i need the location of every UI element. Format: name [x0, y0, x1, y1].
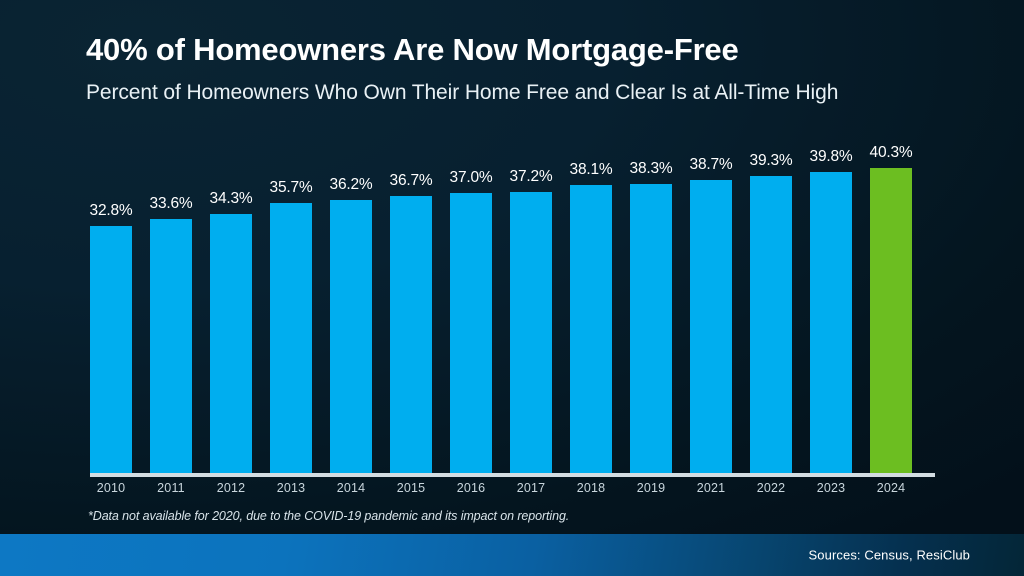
bar-2015[interactable]: [390, 196, 432, 476]
bar-2021[interactable]: [690, 180, 732, 476]
bar-group: 37.2%: [510, 140, 552, 476]
x-axis-label-2015: 2015: [390, 481, 432, 495]
footer-band: Sources: Census, ResiClub: [0, 534, 1024, 576]
bar-value-label-2019: 38.3%: [630, 160, 673, 178]
x-axis-label-2017: 2017: [510, 481, 552, 495]
bar-value-label-2012: 34.3%: [210, 190, 253, 208]
bar-value-label-2017: 37.2%: [510, 168, 553, 186]
bar-group: 33.6%: [150, 140, 192, 476]
x-axis-label-2012: 2012: [210, 481, 252, 495]
bar-2010[interactable]: [90, 226, 132, 476]
bar-2023[interactable]: [810, 172, 852, 476]
x-axis-label-2014: 2014: [330, 481, 372, 495]
bar-2014[interactable]: [330, 200, 372, 476]
sources-label: Sources: Census, ResiClub: [809, 548, 970, 563]
x-axis-label-2016: 2016: [450, 481, 492, 495]
x-axis-label-2019: 2019: [630, 481, 672, 495]
bar-2018[interactable]: [570, 185, 612, 476]
bar-group: 37.0%: [450, 140, 492, 476]
bar-value-label-2015: 36.7%: [390, 172, 433, 190]
bar-group: 39.3%: [750, 140, 792, 476]
bar-value-label-2014: 36.2%: [330, 176, 373, 194]
bar-value-label-2011: 33.6%: [150, 195, 193, 213]
x-axis-line: [90, 473, 935, 477]
bar-group: 38.7%: [690, 140, 732, 476]
x-axis-label-2011: 2011: [150, 481, 192, 495]
bar-2022[interactable]: [750, 176, 792, 476]
bar-value-label-2022: 39.3%: [750, 152, 793, 170]
bar-group: 34.3%: [210, 140, 252, 476]
bar-2011[interactable]: [150, 219, 192, 476]
bar-2019[interactable]: [630, 184, 672, 476]
chart-footnote: *Data not available for 2020, due to the…: [88, 509, 569, 523]
bar-2016[interactable]: [450, 193, 492, 476]
bar-chart-plot: 32.8%33.6%34.3%35.7%36.2%36.7%37.0%37.2%…: [90, 140, 938, 476]
x-axis-label-2021: 2021: [690, 481, 732, 495]
x-axis-label-2010: 2010: [90, 481, 132, 495]
infographic-slide: 40% of Homeowners Are Now Mortgage-Free …: [0, 0, 1024, 576]
x-axis-label-2023: 2023: [810, 481, 852, 495]
bar-2017[interactable]: [510, 192, 552, 476]
x-axis-label-2013: 2013: [270, 481, 312, 495]
bar-group: 40.3%: [870, 140, 912, 476]
bar-value-label-2021: 38.7%: [690, 156, 733, 174]
x-axis-label-2022: 2022: [750, 481, 792, 495]
bar-2024[interactable]: [870, 168, 912, 476]
bar-group: 32.8%: [90, 140, 132, 476]
bar-value-label-2023: 39.8%: [810, 148, 853, 166]
page-subtitle: Percent of Homeowners Who Own Their Home…: [86, 68, 966, 105]
bar-group: 36.7%: [390, 140, 432, 476]
bar-group: 38.1%: [570, 140, 612, 476]
bar-value-label-2016: 37.0%: [450, 169, 493, 187]
bar-2013[interactable]: [270, 203, 312, 476]
bar-value-label-2010: 32.8%: [90, 202, 133, 220]
x-axis-label-2018: 2018: [570, 481, 612, 495]
bar-value-label-2024: 40.3%: [870, 144, 913, 162]
bar-2012[interactable]: [210, 214, 252, 476]
x-axis-labels: 2010201120122013201420152016201720182019…: [90, 481, 938, 501]
bar-group: 38.3%: [630, 140, 672, 476]
bar-group: 35.7%: [270, 140, 312, 476]
header: 40% of Homeowners Are Now Mortgage-Free …: [86, 32, 966, 105]
bar-group: 39.8%: [810, 140, 852, 476]
bar-value-label-2018: 38.1%: [570, 161, 613, 179]
page-title: 40% of Homeowners Are Now Mortgage-Free: [86, 32, 966, 68]
bar-value-label-2013: 35.7%: [270, 179, 313, 197]
bar-group: 36.2%: [330, 140, 372, 476]
x-axis-label-2024: 2024: [870, 481, 912, 495]
